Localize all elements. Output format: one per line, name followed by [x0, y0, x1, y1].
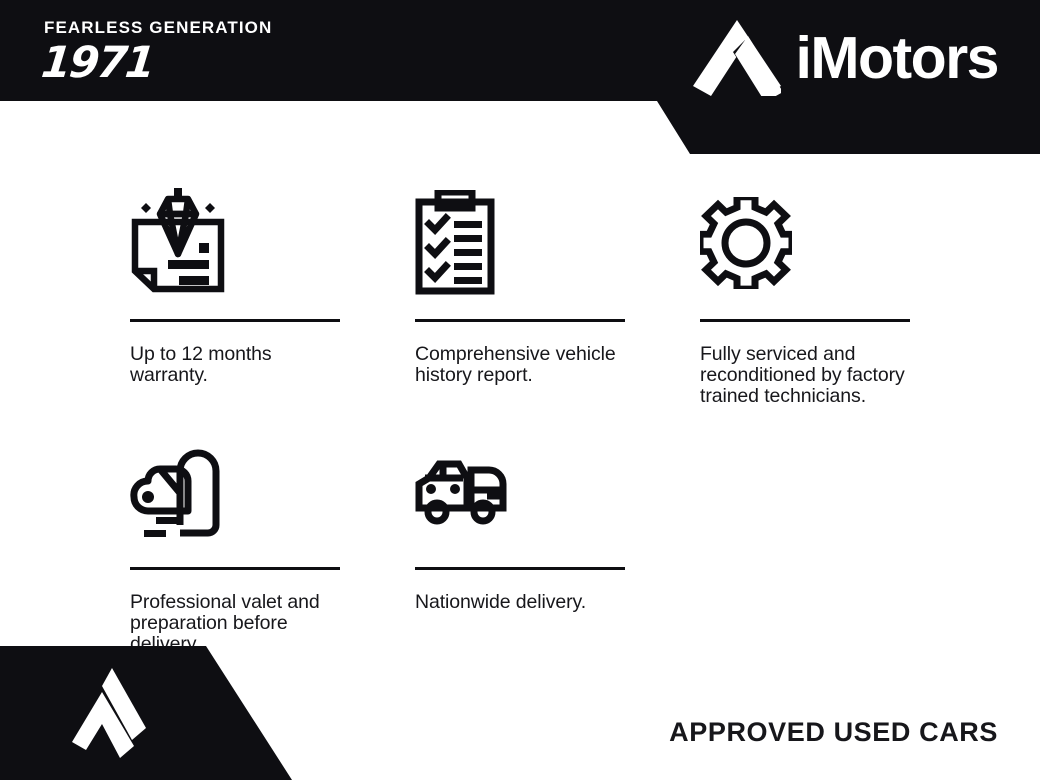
feature-divider — [700, 319, 910, 322]
clipboard-checklist-icon — [415, 185, 625, 300]
feature-item-history-report: Comprehensive vehicle history report. — [415, 185, 625, 386]
feature-divider — [415, 319, 625, 322]
campaign-title: FEARLESS GENERATION — [44, 18, 272, 38]
promotional-banner: FEARLESS GENERATION 1971 iMotors — [0, 0, 1040, 780]
footer-tagline: APPROVED USED CARS — [669, 717, 998, 747]
brand-name: iMotors — [795, 27, 998, 89]
car-transporter-truck-icon — [415, 433, 625, 548]
campaign-year: 1971 — [39, 40, 272, 86]
gem-certificate-icon — [130, 185, 340, 300]
gear-cog-icon — [700, 185, 910, 300]
feature-divider — [130, 319, 340, 322]
feature-item-serviced: Fully serviced and reconditioned by fact… — [700, 185, 910, 407]
feature-row: Professional valet and preparation befor… — [130, 433, 930, 655]
vacuum-cleaner-icon — [130, 433, 340, 548]
campaign-badge: FEARLESS GENERATION 1971 — [44, 18, 272, 86]
feature-divider — [130, 567, 340, 570]
feature-text: Fully serviced and reconditioned by fact… — [700, 344, 910, 407]
feature-item-valet: Professional valet and preparation befor… — [130, 433, 340, 655]
brand-logo[interactable]: iMotors — [693, 20, 998, 96]
feature-grid: Up to 12 months warranty. — [130, 185, 930, 655]
imotors-chevron-logo-icon — [72, 668, 146, 758]
imotors-chevron-logo-icon — [693, 20, 781, 96]
footer-wedge — [0, 646, 292, 780]
feature-item-delivery: Nationwide delivery. — [415, 433, 625, 613]
feature-divider — [415, 567, 625, 570]
feature-row: Up to 12 months warranty. — [130, 185, 930, 407]
feature-text: Professional valet and preparation befor… — [130, 592, 340, 655]
feature-item-warranty: Up to 12 months warranty. — [130, 185, 340, 386]
feature-text: Up to 12 months warranty. — [130, 344, 340, 386]
feature-text: Comprehensive vehicle history report. — [415, 344, 625, 386]
feature-text: Nationwide delivery. — [415, 592, 625, 613]
